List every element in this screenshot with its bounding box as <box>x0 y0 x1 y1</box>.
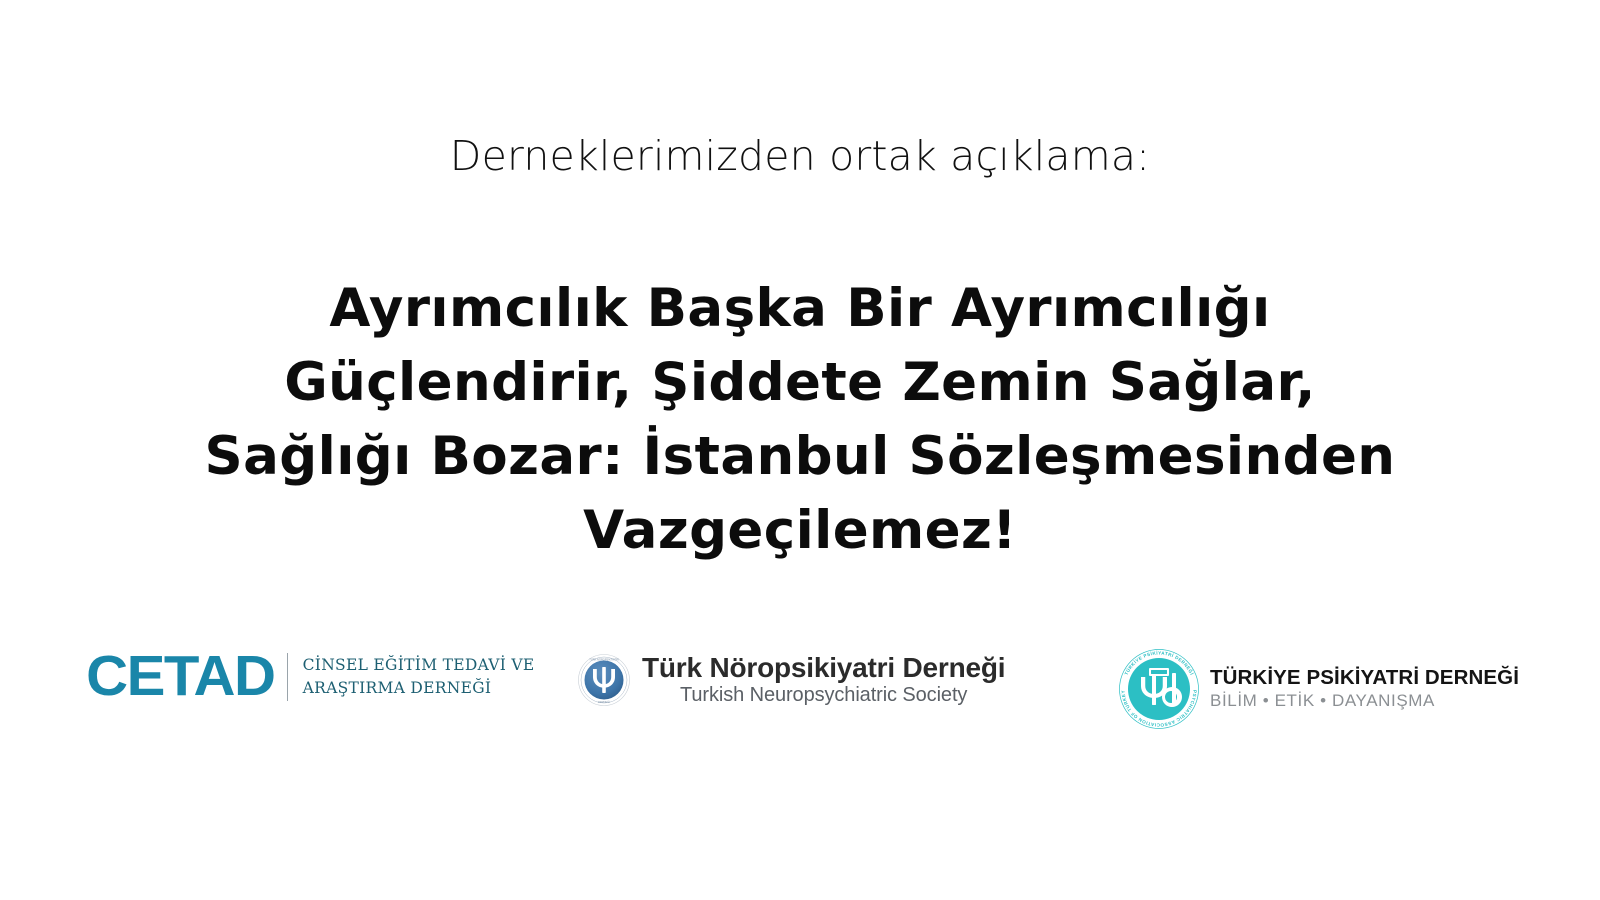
title-line-2: Güçlendirir, Şiddete Zemin Sağlar, <box>0 346 1600 420</box>
title-line-1: Ayrımcılık Başka Bir Ayrımcılığı <box>0 272 1600 346</box>
psi-d-seal-icon: TÜRKİYE PSİKİYATRİ DERNEĞİ PSYCHIATRIC A… <box>1118 648 1200 730</box>
cetad-wordmark: CETAD <box>86 648 274 705</box>
tpd-subtitle: BİLİM • ETİK • DAYANIŞMA <box>1210 690 1519 713</box>
title-line-3: Sağlığı Bozar: İstanbul Sözleşmesinden <box>0 420 1600 494</box>
page-title: Ayrımcılık Başka Bir Ayrımcılığı Güçlend… <box>0 272 1600 568</box>
cetad-divider <box>287 653 288 701</box>
cetad-subtitle-line-1: CİNSEL EĞİTİM TEDAVİ VE <box>303 654 535 676</box>
title-line-4: Vazgeçilemez! <box>0 494 1600 568</box>
logo-turk-noropsikiyatri-dernegi: TÜRK NÖROPSİKİYATRİ DERNEĞİ Türk Nöropsi… <box>578 652 1005 708</box>
logo-cetad: CETAD CİNSEL EĞİTİM TEDAVİ VE ARAŞTIRMA … <box>88 648 535 705</box>
tpd-title: TÜRKİYE PSİKİYATRİ DERNEĞİ <box>1210 665 1519 691</box>
kicker-text: Derneklerimizden ortak açıklama: <box>0 132 1600 181</box>
tnd-title: Türk Nöropsikiyatri Derneği <box>642 652 1005 683</box>
cetad-subtitle: CİNSEL EĞİTİM TEDAVİ VE ARAŞTIRMA DERNEĞ… <box>303 654 535 699</box>
logo-turkiye-psikiyatri-dernegi: TÜRKİYE PSİKİYATRİ DERNEĞİ PSYCHIATRIC A… <box>1118 648 1519 730</box>
cetad-subtitle-line-2: ARAŞTIRMA DERNEĞİ <box>303 677 535 699</box>
tnd-subtitle: Turkish Neuropsychiatric Society <box>642 683 1005 708</box>
psi-badge-icon: TÜRK NÖROPSİKİYATRİ DERNEĞİ <box>578 654 630 706</box>
logo-strip: CETAD CİNSEL EĞİTİM TEDAVİ VE ARAŞTIRMA … <box>0 640 1600 750</box>
announcement-slide: Derneklerimizden ortak açıklama: Ayrımcı… <box>0 0 1600 900</box>
